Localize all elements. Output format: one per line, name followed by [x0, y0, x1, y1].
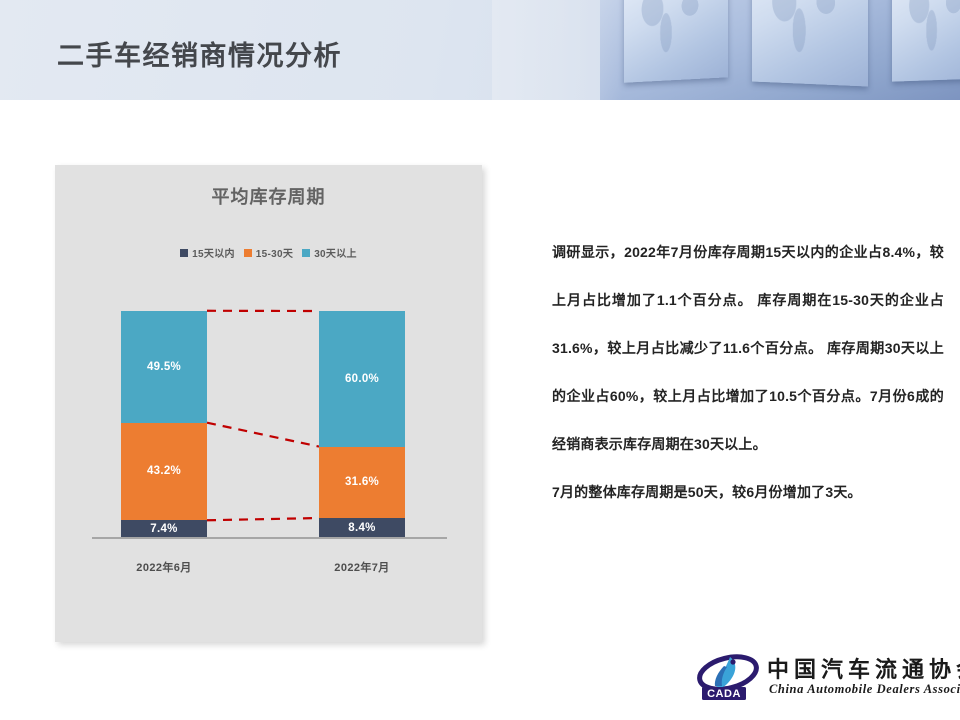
connector-line-2	[207, 518, 319, 520]
bar-segment-0-0[interactable]: 7.4%	[121, 520, 207, 537]
bar-segment-1-1[interactable]: 31.6%	[319, 447, 405, 518]
world-map-texture-icon	[636, 0, 711, 63]
svg-text:CADA: CADA	[707, 688, 741, 700]
cube-shape-1	[624, 0, 728, 83]
cada-logo-icon: CADA	[697, 654, 759, 702]
bar-segment-1-2[interactable]: 60.0%	[319, 311, 405, 447]
bar-segment-0-1[interactable]: 43.2%	[121, 423, 207, 521]
commentary-paragraph-2: 7月的整体库存周期是50天，较6月份增加了3天。	[552, 468, 944, 516]
world-map-texture-icon	[766, 0, 850, 64]
bar-value-label-0-2: 49.5%	[147, 361, 181, 373]
connector-line-1	[207, 423, 319, 447]
logo-name-en: China Automobile Dealers Association	[769, 682, 960, 697]
legend-swatch-icon-0	[180, 249, 188, 257]
bar-value-label-1-2: 60.0%	[345, 373, 379, 385]
commentary-paragraph-1: 调研显示，2022年7月份库存周期15天以内的企业占8.4%，较上月占比增加了1…	[552, 228, 944, 468]
header-decoration-image	[600, 0, 960, 100]
legend-swatch-icon-1	[244, 249, 252, 257]
commentary-panel: 调研显示，2022年7月份库存周期15天以内的企业占8.4%，较上月占比增加了1…	[552, 228, 944, 516]
cube-shape-3	[892, 0, 960, 82]
bar-column-0[interactable]: 49.5%43.2%7.4%	[121, 311, 207, 537]
category-label-0: 2022年6月	[104, 559, 224, 575]
bar-value-label-1-1: 31.6%	[345, 476, 379, 488]
legend-item-0[interactable]: 15天以内	[180, 245, 235, 260]
chart-title: 平均库存周期	[55, 183, 482, 209]
chart-panel: 平均库存周期 15天以内 15-30天 30天以上 49.5%43.2%7.4%…	[55, 165, 482, 642]
bar-segment-0-2[interactable]: 49.5%	[121, 311, 207, 423]
legend-label-2: 30天以上	[314, 245, 357, 260]
cube-shape-2	[752, 0, 868, 87]
bar-column-1[interactable]: 60.0%31.6%8.4%	[319, 311, 405, 537]
category-axis-line	[92, 537, 447, 539]
connector-lines	[55, 293, 482, 591]
legend-item-1[interactable]: 15-30天	[244, 245, 293, 260]
bar-value-label-1-0: 8.4%	[348, 522, 375, 534]
bar-value-label-0-1: 43.2%	[147, 465, 181, 477]
page-title: 二手车经销商情况分析	[57, 34, 342, 73]
chart-plot-area: 49.5%43.2%7.4% 60.0%31.6%8.4% 2022年6月 20…	[55, 293, 482, 591]
legend-label-1: 15-30天	[256, 245, 293, 260]
legend-swatch-icon-2	[302, 249, 310, 257]
world-map-texture-icon	[904, 0, 960, 61]
bar-value-label-0-0: 7.4%	[150, 523, 177, 535]
legend-item-2[interactable]: 30天以上	[302, 245, 357, 260]
chart-legend: 15天以内 15-30天 30天以上	[55, 245, 482, 260]
category-label-1: 2022年7月	[302, 559, 422, 575]
logo-name-cn: 中国汽车流通协会	[767, 652, 960, 684]
page-header: 二手车经销商情况分析	[0, 0, 960, 100]
footer-logo: CADA 中国汽车流通协会 China Automobile Dealers A…	[697, 650, 947, 708]
legend-label-0: 15天以内	[192, 245, 235, 260]
bar-segment-1-0[interactable]: 8.4%	[319, 518, 405, 537]
header-gradient-fade	[492, 0, 622, 100]
